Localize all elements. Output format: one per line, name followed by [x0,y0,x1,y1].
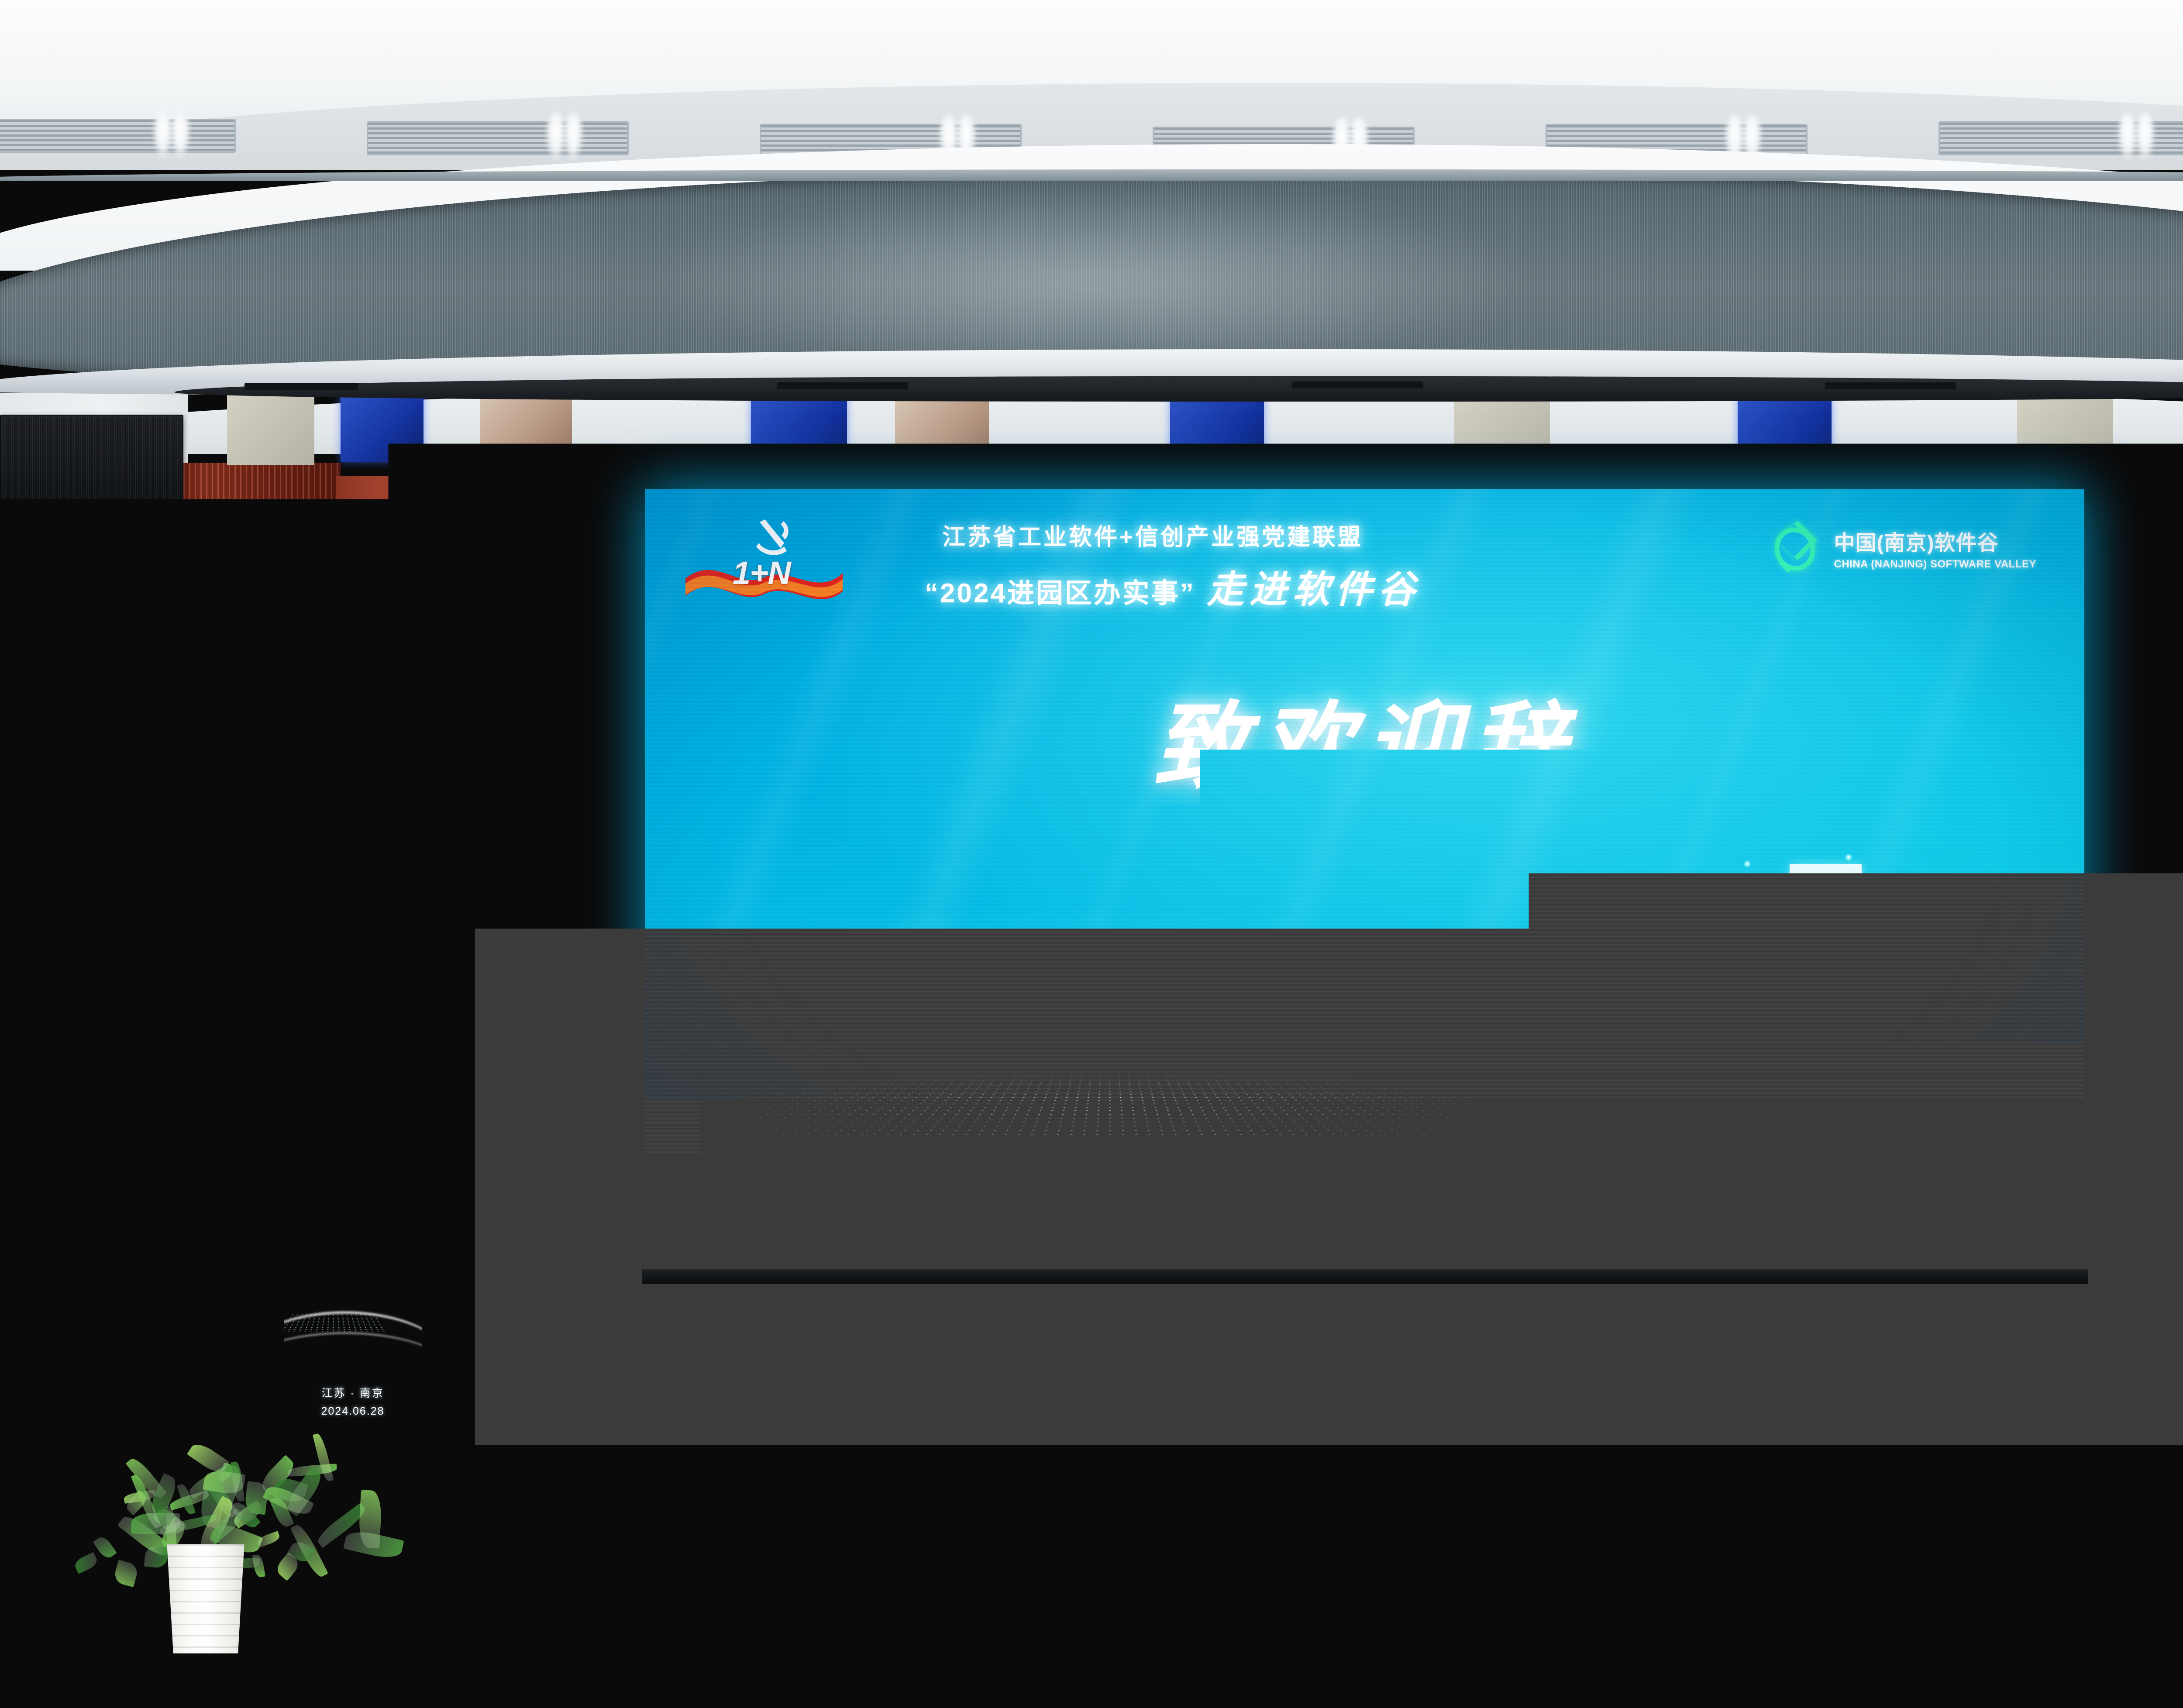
ceiling-vent [367,121,629,155]
software-valley-logo: 中国(南京)软件谷 CHINA (NANJING) SOFTWARE VALLE… [1771,522,2037,574]
podium-skyline-graphic [327,1211,410,1289]
plant-leaf [252,1554,266,1578]
stage-floor-reflection [1266,1281,1450,1412]
stage-floor-socket [1170,1360,1183,1366]
podium-logo-subtext [422,1096,450,1098]
stage-floor-socket [1825,1360,1838,1366]
person-ear-left [335,952,345,970]
house-floor [0,1641,2183,1708]
left-riser-top [0,1279,188,1294]
led-main-title: 致欢迎辞 [645,670,2084,807]
moving-head-light [690,384,737,467]
par-can-light [1083,388,1123,441]
podium-light-column [382,1266,383,1298]
par-can-light [279,388,320,441]
plant-leaf [113,1560,139,1587]
stage-floor-socket [2043,1360,2056,1366]
par-can-light [895,388,935,441]
led-backdrop-screen: 1+N 江苏省工业软件+信创产业强党建联盟 “2024进园区办实事”走进软件谷 … [645,489,2084,1275]
line-array-element [109,554,196,615]
plant-leaf [72,1552,99,1574]
person-eye-right [382,959,394,963]
par-can-light [1773,388,1813,441]
par-can-light [2078,388,2118,441]
logo-name-en: CHINA (NANJING) SOFTWARE VALLEY [1834,558,2037,570]
moving-head-light [1279,384,1326,467]
led-speaker-credit: 黄海泉中国（南京）软件谷管委会副主任 [645,842,2084,889]
stage-floor-socket [489,1314,504,1321]
ceiling-downlight [170,110,190,158]
led-screen-bottom-frame [642,1269,2088,1284]
podium-light-column [343,1280,344,1312]
ceiling-downlight [2135,113,2155,161]
speaker-title: 中国（南京）软件谷管委会副主任 [1247,859,1607,885]
moving-head-light [2179,384,2183,467]
stage-front-lip [87,1454,2183,1484]
ceiling-downlight [563,113,583,161]
podium-light-column [314,1265,316,1312]
line-array-element [114,684,203,752]
moving-head-light [218,384,265,467]
plant-leaf [256,1531,281,1547]
line-array-element [115,749,205,820]
person-brow-left [348,952,362,955]
podium-skyline-building [343,1252,352,1289]
podium-skyline-building [354,1241,366,1289]
par-can-light [1375,388,1415,441]
soffit-top-edge [0,169,2183,181]
ceiling-vent [0,119,236,153]
software-valley-glyph-icon [1771,522,1823,574]
podium-skyline-building [368,1257,380,1289]
led-header-line-1: 江苏省工业软件+信创产业强党建联盟 [942,519,1363,552]
stage-floor-socket [760,1406,771,1411]
party-building-emblem: 1+N [685,514,843,610]
stage-floor-socket [2069,1406,2081,1411]
par-can-light [611,388,651,441]
stage-floor-socket [1144,1314,1159,1321]
one-plus-n-mark: 1+N [733,554,790,591]
stage-floor-socket [1633,1406,1644,1411]
moving-head-light [1873,384,1920,467]
plant-pot [161,1544,251,1653]
stage-floor-socket [2017,1314,2032,1321]
stage-floor-socket [978,1406,989,1411]
podium-skyline-building [382,1247,396,1289]
led-header-quoted: “2024进园区办实事” [925,578,1195,608]
plant-leaf [93,1534,117,1560]
moving-head-light [987,384,1034,467]
par-can-light-purple [1576,393,1615,442]
right-wood-panel-ribbed [2078,466,2183,1291]
person-eye-left [349,959,361,963]
podium-skyline-building [331,1263,341,1289]
stage-floor-socket [541,1406,553,1411]
led-header-calligraphy: 走进软件谷 [1207,569,1421,611]
par-can-light-purple [1480,393,1518,442]
stage-floor-socket [1607,1360,1620,1366]
person-mouth [362,982,382,989]
stage-floor-socket [707,1314,722,1321]
podium-light-column [353,1251,354,1298]
logo-name-cn: 中国(南京)软件谷 [1834,526,2037,556]
line-array-element [111,619,200,684]
stage-floor-socket [515,1360,528,1366]
par-can-light-purple [520,393,558,442]
stage-step [70,1615,2183,1649]
person-ear-right [399,952,409,970]
podium-sign-swoosh [252,1112,457,1160]
stage-floor-socket [1196,1406,1208,1411]
podium-rail-right [428,1167,439,1442]
stage-floor-socket [926,1314,940,1321]
potted-plant [65,1340,310,1654]
par-can-light [345,388,385,441]
stage-floor-socket [1799,1314,1814,1321]
skyline-light-column [1949,962,1951,1013]
moving-head-light [441,384,488,467]
podium-light-column [334,1288,335,1305]
podium-sign-board: 江苏省工业软件+信创产业强党建联盟 “2024进园区办实事”走进软件谷 [252,1081,457,1160]
podium-light-column [305,1273,306,1305]
stage-floor-socket [733,1360,747,1366]
podium-light-column [324,1236,325,1298]
stage-floor-socket [1851,1406,1863,1411]
podium-skyline-building [397,1263,407,1289]
cpc-hammer-sickle-icon [752,518,794,555]
podium-light-column [295,1281,296,1298]
podium-light-column [362,1243,364,1305]
stage-floor-socket [1580,1314,1595,1321]
par-can-light [1179,388,1219,441]
podium-cpc-icon [272,1083,284,1097]
stage-floor-socket [952,1360,965,1366]
stage-photo-scene: 1+N 江苏省工业软件+信创产业强党建联盟 “2024进园区办实事”走进软件谷 … [0,0,2183,1708]
laptop-logo: Y [347,1052,357,1069]
speaker-name: 黄海泉 [1122,851,1232,887]
podium-light-column [372,1295,373,1312]
par-can-light [786,388,826,441]
left-wood-panel-ribbed-2 [476,471,651,1292]
par-can-light [1672,388,1712,441]
podium-light-column [391,1258,393,1305]
person-nose [368,965,375,977]
led-header-line-2: “2024进园区办实事”走进软件谷 [925,559,1421,613]
soffit-highlight [655,188,1528,375]
par-can-light [1973,388,2014,441]
person-brow-right [382,952,396,955]
